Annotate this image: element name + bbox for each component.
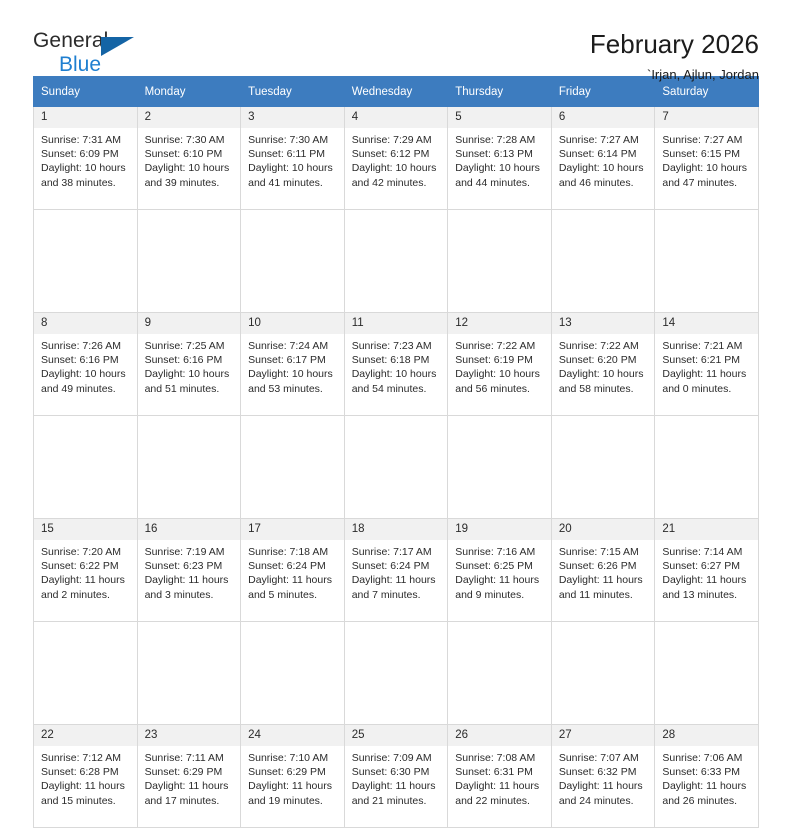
sunrise-text: Sunrise: 7:14 AM [662, 545, 752, 559]
day-details: Sunrise: 7:09 AMSunset: 6:30 PMDaylight:… [345, 746, 448, 808]
sunrise-text: Sunrise: 7:28 AM [455, 133, 545, 147]
week-spacer-cell [551, 622, 655, 725]
day-details: Sunrise: 7:24 AMSunset: 6:17 PMDaylight:… [241, 334, 344, 396]
sunset-text: Sunset: 6:33 PM [662, 765, 752, 779]
daylight-text: Daylight: 11 hours and 13 minutes. [662, 573, 752, 602]
week-spacer-cell [448, 416, 552, 519]
daylight-text: Daylight: 11 hours and 3 minutes. [145, 573, 235, 602]
sunset-text: Sunset: 6:31 PM [455, 765, 545, 779]
calendar-day-cell[interactable]: 21Sunrise: 7:14 AMSunset: 6:27 PMDayligh… [655, 519, 759, 622]
sunset-text: Sunset: 6:19 PM [455, 353, 545, 367]
weekday-header-tuesday: Tuesday [241, 77, 345, 107]
day-details: Sunrise: 7:07 AMSunset: 6:32 PMDaylight:… [552, 746, 655, 808]
daylight-text: Daylight: 11 hours and 21 minutes. [352, 779, 442, 808]
calendar-day-cell[interactable]: 23Sunrise: 7:11 AMSunset: 6:29 PMDayligh… [137, 725, 241, 828]
day-details: Sunrise: 7:22 AMSunset: 6:19 PMDaylight:… [448, 334, 551, 396]
week-spacer-row [34, 416, 759, 519]
daylight-text: Daylight: 10 hours and 42 minutes. [352, 161, 442, 190]
logo-text-blue: Blue [59, 54, 153, 75]
daylight-text: Daylight: 11 hours and 0 minutes. [662, 367, 752, 396]
calendar-day-cell[interactable]: 7Sunrise: 7:27 AMSunset: 6:15 PMDaylight… [655, 107, 759, 210]
calendar-day-cell[interactable]: 4Sunrise: 7:29 AMSunset: 6:12 PMDaylight… [344, 107, 448, 210]
week-spacer-cell [448, 210, 552, 313]
day-details: Sunrise: 7:17 AMSunset: 6:24 PMDaylight:… [345, 540, 448, 602]
week-spacer-cell [551, 210, 655, 313]
day-details: Sunrise: 7:16 AMSunset: 6:25 PMDaylight:… [448, 540, 551, 602]
day-details: Sunrise: 7:18 AMSunset: 6:24 PMDaylight:… [241, 540, 344, 602]
calendar-day-cell[interactable]: 2Sunrise: 7:30 AMSunset: 6:10 PMDaylight… [137, 107, 241, 210]
sunrise-text: Sunrise: 7:27 AM [559, 133, 649, 147]
day-number: 27 [552, 725, 655, 746]
day-number: 13 [552, 313, 655, 334]
week-spacer-cell [34, 210, 138, 313]
daylight-text: Daylight: 10 hours and 44 minutes. [455, 161, 545, 190]
day-details: Sunrise: 7:27 AMSunset: 6:15 PMDaylight:… [655, 128, 758, 190]
day-details: Sunrise: 7:15 AMSunset: 6:26 PMDaylight:… [552, 540, 655, 602]
daylight-text: Daylight: 10 hours and 51 minutes. [145, 367, 235, 396]
daylight-text: Daylight: 11 hours and 17 minutes. [145, 779, 235, 808]
sunset-text: Sunset: 6:23 PM [145, 559, 235, 573]
daylight-text: Daylight: 10 hours and 56 minutes. [455, 367, 545, 396]
sunset-text: Sunset: 6:27 PM [662, 559, 752, 573]
sunset-text: Sunset: 6:10 PM [145, 147, 235, 161]
calendar-week-row: 8Sunrise: 7:26 AMSunset: 6:16 PMDaylight… [34, 313, 759, 416]
sunset-text: Sunset: 6:28 PM [41, 765, 131, 779]
calendar-day-cell[interactable]: 24Sunrise: 7:10 AMSunset: 6:29 PMDayligh… [241, 725, 345, 828]
day-number: 14 [655, 313, 758, 334]
sunrise-text: Sunrise: 7:18 AM [248, 545, 338, 559]
sunrise-text: Sunrise: 7:09 AM [352, 751, 442, 765]
title-block: February 2026 `Irjan, Ajlun, Jordan [590, 30, 759, 82]
daylight-text: Daylight: 10 hours and 39 minutes. [145, 161, 235, 190]
calendar-day-cell[interactable]: 19Sunrise: 7:16 AMSunset: 6:25 PMDayligh… [448, 519, 552, 622]
sunset-text: Sunset: 6:09 PM [41, 147, 131, 161]
sunset-text: Sunset: 6:14 PM [559, 147, 649, 161]
daylight-text: Daylight: 10 hours and 46 minutes. [559, 161, 649, 190]
sunrise-text: Sunrise: 7:07 AM [559, 751, 649, 765]
daylight-text: Daylight: 10 hours and 54 minutes. [352, 367, 442, 396]
logo-triangle-icon [101, 37, 134, 56]
week-spacer-cell [137, 622, 241, 725]
sunset-text: Sunset: 6:22 PM [41, 559, 131, 573]
daylight-text: Daylight: 11 hours and 9 minutes. [455, 573, 545, 602]
page-title: February 2026 [590, 30, 759, 59]
daylight-text: Daylight: 11 hours and 26 minutes. [662, 779, 752, 808]
week-spacer-row [34, 210, 759, 313]
sunrise-text: Sunrise: 7:16 AM [455, 545, 545, 559]
day-number: 11 [345, 313, 448, 334]
general-blue-logo[interactable]: General Blue [33, 30, 153, 80]
sunrise-text: Sunrise: 7:22 AM [455, 339, 545, 353]
day-details: Sunrise: 7:23 AMSunset: 6:18 PMDaylight:… [345, 334, 448, 396]
calendar-day-cell[interactable]: 26Sunrise: 7:08 AMSunset: 6:31 PMDayligh… [448, 725, 552, 828]
calendar-page: General Blue February 2026 `Irjan, Ajlun… [0, 0, 792, 612]
day-number: 24 [241, 725, 344, 746]
sunrise-text: Sunrise: 7:06 AM [662, 751, 752, 765]
calendar-day-cell[interactable]: 17Sunrise: 7:18 AMSunset: 6:24 PMDayligh… [241, 519, 345, 622]
week-spacer-cell [655, 622, 759, 725]
daylight-text: Daylight: 11 hours and 15 minutes. [41, 779, 131, 808]
sunset-text: Sunset: 6:17 PM [248, 353, 338, 367]
sunset-text: Sunset: 6:18 PM [352, 353, 442, 367]
sunrise-text: Sunrise: 7:30 AM [248, 133, 338, 147]
day-details: Sunrise: 7:30 AMSunset: 6:10 PMDaylight:… [138, 128, 241, 190]
sunset-text: Sunset: 6:15 PM [662, 147, 752, 161]
calendar-day-cell[interactable]: 1Sunrise: 7:31 AMSunset: 6:09 PMDaylight… [34, 107, 138, 210]
sunrise-text: Sunrise: 7:26 AM [41, 339, 131, 353]
week-spacer-cell [344, 210, 448, 313]
weekday-header-sunday: Sunday [34, 77, 138, 107]
sunset-text: Sunset: 6:13 PM [455, 147, 545, 161]
day-details: Sunrise: 7:21 AMSunset: 6:21 PMDaylight:… [655, 334, 758, 396]
sunrise-text: Sunrise: 7:27 AM [662, 133, 752, 147]
sunrise-sunset-calendar: Sunday Monday Tuesday Wednesday Thursday… [33, 76, 759, 828]
sunrise-text: Sunrise: 7:19 AM [145, 545, 235, 559]
sunrise-text: Sunrise: 7:29 AM [352, 133, 442, 147]
day-details: Sunrise: 7:29 AMSunset: 6:12 PMDaylight:… [345, 128, 448, 190]
day-details: Sunrise: 7:25 AMSunset: 6:16 PMDaylight:… [138, 334, 241, 396]
daylight-text: Daylight: 10 hours and 53 minutes. [248, 367, 338, 396]
day-number: 7 [655, 107, 758, 128]
day-number: 16 [138, 519, 241, 540]
day-details: Sunrise: 7:20 AMSunset: 6:22 PMDaylight:… [34, 540, 137, 602]
calendar-day-cell[interactable]: 27Sunrise: 7:07 AMSunset: 6:32 PMDayligh… [551, 725, 655, 828]
page-header: General Blue February 2026 `Irjan, Ajlun… [33, 0, 759, 66]
week-spacer-cell [241, 416, 345, 519]
calendar-day-cell[interactable]: 16Sunrise: 7:19 AMSunset: 6:23 PMDayligh… [137, 519, 241, 622]
sunset-text: Sunset: 6:25 PM [455, 559, 545, 573]
logo-text-general: General [33, 30, 153, 53]
week-spacer-cell [344, 416, 448, 519]
sunset-text: Sunset: 6:29 PM [248, 765, 338, 779]
week-spacer-cell [241, 210, 345, 313]
calendar-day-cell[interactable]: 15Sunrise: 7:20 AMSunset: 6:22 PMDayligh… [34, 519, 138, 622]
sunrise-text: Sunrise: 7:21 AM [662, 339, 752, 353]
calendar-day-cell[interactable]: 12Sunrise: 7:22 AMSunset: 6:19 PMDayligh… [448, 313, 552, 416]
sunrise-text: Sunrise: 7:30 AM [145, 133, 235, 147]
day-number: 28 [655, 725, 758, 746]
day-details: Sunrise: 7:11 AMSunset: 6:29 PMDaylight:… [138, 746, 241, 808]
weekday-header-wednesday: Wednesday [344, 77, 448, 107]
day-number: 18 [345, 519, 448, 540]
daylight-text: Daylight: 10 hours and 47 minutes. [662, 161, 752, 190]
calendar-week-row: 22Sunrise: 7:12 AMSunset: 6:28 PMDayligh… [34, 725, 759, 828]
day-number: 20 [552, 519, 655, 540]
week-spacer-cell [344, 622, 448, 725]
week-spacer-cell [137, 210, 241, 313]
calendar-body: 1Sunrise: 7:31 AMSunset: 6:09 PMDaylight… [34, 107, 759, 828]
calendar-day-cell[interactable]: 20Sunrise: 7:15 AMSunset: 6:26 PMDayligh… [551, 519, 655, 622]
sunrise-text: Sunrise: 7:10 AM [248, 751, 338, 765]
day-details: Sunrise: 7:26 AMSunset: 6:16 PMDaylight:… [34, 334, 137, 396]
day-details: Sunrise: 7:31 AMSunset: 6:09 PMDaylight:… [34, 128, 137, 190]
sunrise-text: Sunrise: 7:20 AM [41, 545, 131, 559]
sunrise-text: Sunrise: 7:12 AM [41, 751, 131, 765]
sunset-text: Sunset: 6:11 PM [248, 147, 338, 161]
calendar-day-cell[interactable]: 11Sunrise: 7:23 AMSunset: 6:18 PMDayligh… [344, 313, 448, 416]
day-number: 8 [34, 313, 137, 334]
week-spacer-cell [34, 622, 138, 725]
calendar-day-cell[interactable]: 9Sunrise: 7:25 AMSunset: 6:16 PMDaylight… [137, 313, 241, 416]
day-number: 6 [552, 107, 655, 128]
week-spacer-cell [34, 416, 138, 519]
sunset-text: Sunset: 6:24 PM [248, 559, 338, 573]
sunrise-text: Sunrise: 7:31 AM [41, 133, 131, 147]
day-number: 4 [345, 107, 448, 128]
calendar-day-cell[interactable]: 18Sunrise: 7:17 AMSunset: 6:24 PMDayligh… [344, 519, 448, 622]
day-number: 22 [34, 725, 137, 746]
day-details: Sunrise: 7:30 AMSunset: 6:11 PMDaylight:… [241, 128, 344, 190]
sunset-text: Sunset: 6:16 PM [145, 353, 235, 367]
sunset-text: Sunset: 6:21 PM [662, 353, 752, 367]
day-number: 25 [345, 725, 448, 746]
day-details: Sunrise: 7:19 AMSunset: 6:23 PMDaylight:… [138, 540, 241, 602]
week-spacer-cell [655, 210, 759, 313]
sunset-text: Sunset: 6:30 PM [352, 765, 442, 779]
day-number: 23 [138, 725, 241, 746]
sunrise-text: Sunrise: 7:17 AM [352, 545, 442, 559]
day-details: Sunrise: 7:28 AMSunset: 6:13 PMDaylight:… [448, 128, 551, 190]
sunrise-text: Sunrise: 7:25 AM [145, 339, 235, 353]
calendar-day-cell[interactable]: 8Sunrise: 7:26 AMSunset: 6:16 PMDaylight… [34, 313, 138, 416]
sunset-text: Sunset: 6:20 PM [559, 353, 649, 367]
day-number: 12 [448, 313, 551, 334]
week-spacer-cell [137, 416, 241, 519]
calendar-day-cell[interactable]: 5Sunrise: 7:28 AMSunset: 6:13 PMDaylight… [448, 107, 552, 210]
day-details: Sunrise: 7:14 AMSunset: 6:27 PMDaylight:… [655, 540, 758, 602]
calendar-day-cell[interactable]: 22Sunrise: 7:12 AMSunset: 6:28 PMDayligh… [34, 725, 138, 828]
calendar-day-cell[interactable]: 6Sunrise: 7:27 AMSunset: 6:14 PMDaylight… [551, 107, 655, 210]
sunrise-text: Sunrise: 7:15 AM [559, 545, 649, 559]
weekday-header-thursday: Thursday [448, 77, 552, 107]
daylight-text: Daylight: 10 hours and 58 minutes. [559, 367, 649, 396]
sunset-text: Sunset: 6:29 PM [145, 765, 235, 779]
day-number: 10 [241, 313, 344, 334]
calendar-day-cell[interactable]: 10Sunrise: 7:24 AMSunset: 6:17 PMDayligh… [241, 313, 345, 416]
sunset-text: Sunset: 6:12 PM [352, 147, 442, 161]
sunrise-text: Sunrise: 7:11 AM [145, 751, 235, 765]
daylight-text: Daylight: 11 hours and 11 minutes. [559, 573, 649, 602]
sunrise-text: Sunrise: 7:24 AM [248, 339, 338, 353]
sunset-text: Sunset: 6:32 PM [559, 765, 649, 779]
calendar-week-row: 1Sunrise: 7:31 AMSunset: 6:09 PMDaylight… [34, 107, 759, 210]
day-number: 26 [448, 725, 551, 746]
day-details: Sunrise: 7:22 AMSunset: 6:20 PMDaylight:… [552, 334, 655, 396]
day-number: 17 [241, 519, 344, 540]
day-details: Sunrise: 7:27 AMSunset: 6:14 PMDaylight:… [552, 128, 655, 190]
sunrise-text: Sunrise: 7:22 AM [559, 339, 649, 353]
daylight-text: Daylight: 10 hours and 41 minutes. [248, 161, 338, 190]
day-details: Sunrise: 7:08 AMSunset: 6:31 PMDaylight:… [448, 746, 551, 808]
sunrise-text: Sunrise: 7:23 AM [352, 339, 442, 353]
day-number: 9 [138, 313, 241, 334]
sunset-text: Sunset: 6:24 PM [352, 559, 442, 573]
calendar-day-cell[interactable]: 13Sunrise: 7:22 AMSunset: 6:20 PMDayligh… [551, 313, 655, 416]
calendar-day-cell[interactable]: 3Sunrise: 7:30 AMSunset: 6:11 PMDaylight… [241, 107, 345, 210]
day-number: 19 [448, 519, 551, 540]
day-number: 15 [34, 519, 137, 540]
calendar-day-cell[interactable]: 14Sunrise: 7:21 AMSunset: 6:21 PMDayligh… [655, 313, 759, 416]
week-spacer-cell [241, 622, 345, 725]
daylight-text: Daylight: 11 hours and 22 minutes. [455, 779, 545, 808]
sunset-text: Sunset: 6:26 PM [559, 559, 649, 573]
daylight-text: Daylight: 11 hours and 5 minutes. [248, 573, 338, 602]
day-number: 1 [34, 107, 137, 128]
daylight-text: Daylight: 11 hours and 19 minutes. [248, 779, 338, 808]
calendar-day-cell[interactable]: 28Sunrise: 7:06 AMSunset: 6:33 PMDayligh… [655, 725, 759, 828]
day-details: Sunrise: 7:06 AMSunset: 6:33 PMDaylight:… [655, 746, 758, 808]
sunset-text: Sunset: 6:16 PM [41, 353, 131, 367]
daylight-text: Daylight: 11 hours and 24 minutes. [559, 779, 649, 808]
day-details: Sunrise: 7:12 AMSunset: 6:28 PMDaylight:… [34, 746, 137, 808]
week-spacer-row [34, 622, 759, 725]
daylight-text: Daylight: 10 hours and 49 minutes. [41, 367, 131, 396]
daylight-text: Daylight: 10 hours and 38 minutes. [41, 161, 131, 190]
calendar-day-cell[interactable]: 25Sunrise: 7:09 AMSunset: 6:30 PMDayligh… [344, 725, 448, 828]
weekday-header-monday: Monday [137, 77, 241, 107]
page-subtitle: `Irjan, Ajlun, Jordan [590, 67, 759, 82]
day-number: 5 [448, 107, 551, 128]
day-number: 2 [138, 107, 241, 128]
week-spacer-cell [448, 622, 552, 725]
sunrise-text: Sunrise: 7:08 AM [455, 751, 545, 765]
calendar-week-row: 15Sunrise: 7:20 AMSunset: 6:22 PMDayligh… [34, 519, 759, 622]
day-number: 21 [655, 519, 758, 540]
daylight-text: Daylight: 11 hours and 7 minutes. [352, 573, 442, 602]
day-number: 3 [241, 107, 344, 128]
day-details: Sunrise: 7:10 AMSunset: 6:29 PMDaylight:… [241, 746, 344, 808]
daylight-text: Daylight: 11 hours and 2 minutes. [41, 573, 131, 602]
week-spacer-cell [551, 416, 655, 519]
week-spacer-cell [655, 416, 759, 519]
